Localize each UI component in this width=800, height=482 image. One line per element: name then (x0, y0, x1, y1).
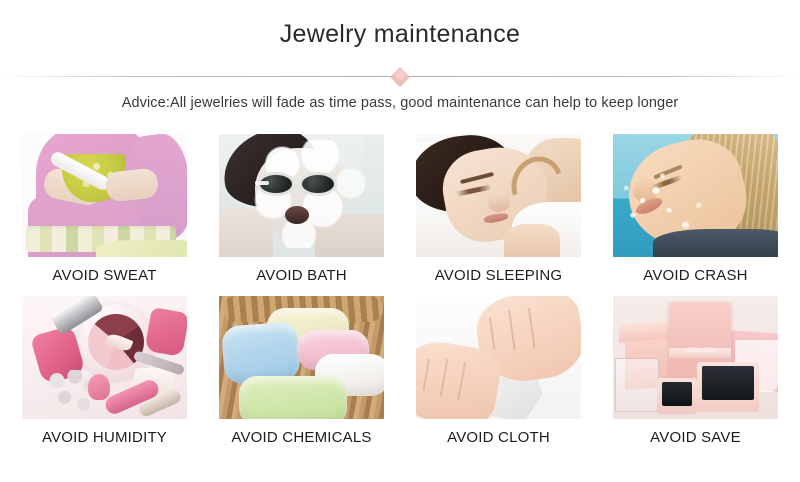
tip-card-avoid-save: AVOID SAVE (613, 296, 778, 446)
shape-goggle-lens-right (299, 172, 337, 196)
shape-goggles (255, 172, 351, 196)
shape-water-droplets (613, 134, 778, 257)
tip-label-avoid-cloth: AVOID CLOTH (416, 419, 581, 446)
illustration-woman-sleeping (416, 134, 581, 257)
shape-goggle-bridge (255, 181, 269, 185)
tip-image-avoid-sleeping (416, 134, 581, 257)
shape-clear-box (615, 358, 659, 412)
shape-hem (96, 240, 187, 257)
shape-lip-gloss (88, 374, 110, 400)
illustration-hands-cloth (416, 296, 581, 419)
tip-label-avoid-save: AVOID SAVE (613, 419, 778, 446)
header: Jewelry maintenance (0, 0, 800, 86)
tip-label-avoid-sweat: AVOID SWEAT (22, 257, 187, 284)
tip-image-avoid-chemicals (219, 296, 384, 419)
illustration-water-splash (613, 134, 778, 257)
shape-small-box-interior (662, 382, 692, 406)
page-title: Jewelry maintenance (0, 20, 800, 49)
tip-label-avoid-humidity: AVOID HUMIDITY (22, 419, 187, 446)
illustration-gift-boxes (613, 296, 778, 419)
shape-mouth (285, 206, 309, 224)
tip-image-avoid-cloth (416, 296, 581, 419)
shape-jewelry-box-interior (702, 366, 754, 400)
shape-hand (504, 224, 560, 257)
header-divider (0, 70, 800, 84)
shape-small-jewelry-box (657, 378, 697, 414)
tip-image-avoid-sweat (22, 134, 187, 257)
tip-label-avoid-sleeping: AVOID SLEEPING (416, 257, 581, 284)
shape-bow (683, 342, 719, 358)
tip-card-avoid-humidity: AVOID HUMIDITY (22, 296, 187, 446)
tip-label-avoid-crash: AVOID CRASH (613, 257, 778, 284)
advice-text: Advice:All jewelries will fade as time p… (0, 95, 800, 111)
shape-nail-polish-right (144, 307, 187, 357)
shape-finger-lines (416, 355, 494, 405)
tip-card-avoid-sleeping: AVOID SLEEPING (416, 134, 581, 284)
illustration-towels-basket (219, 296, 384, 419)
illustration-cosmetics (22, 296, 187, 419)
tip-card-avoid-chemicals: AVOID CHEMICALS (219, 296, 384, 446)
tip-image-avoid-bath (219, 134, 384, 257)
tip-label-avoid-chemicals: AVOID CHEMICALS (219, 419, 384, 446)
tip-image-avoid-humidity (22, 296, 187, 419)
illustration-woman-bathing (219, 134, 384, 257)
tip-card-avoid-bath: AVOID BATH (219, 134, 384, 284)
tip-card-avoid-cloth: AVOID CLOTH (416, 296, 581, 446)
shape-open-jewelry-box (697, 362, 759, 412)
tip-image-avoid-crash (613, 134, 778, 257)
diamond-ornament-icon (390, 67, 410, 87)
tip-label-avoid-bath: AVOID BATH (219, 257, 384, 284)
shape-towel-green (239, 376, 347, 419)
illustration-woman-sweating (22, 134, 187, 257)
jewelry-maintenance-infographic: Jewelry maintenance Advice:All jewelries… (0, 0, 800, 482)
tip-card-avoid-sweat: AVOID SWEAT (22, 134, 187, 284)
maintenance-tips-grid: AVOID SWEAT (22, 134, 778, 446)
shape-finger-lines (482, 303, 571, 354)
tip-card-avoid-crash: AVOID CRASH (613, 134, 778, 284)
tip-image-avoid-save (613, 296, 778, 419)
